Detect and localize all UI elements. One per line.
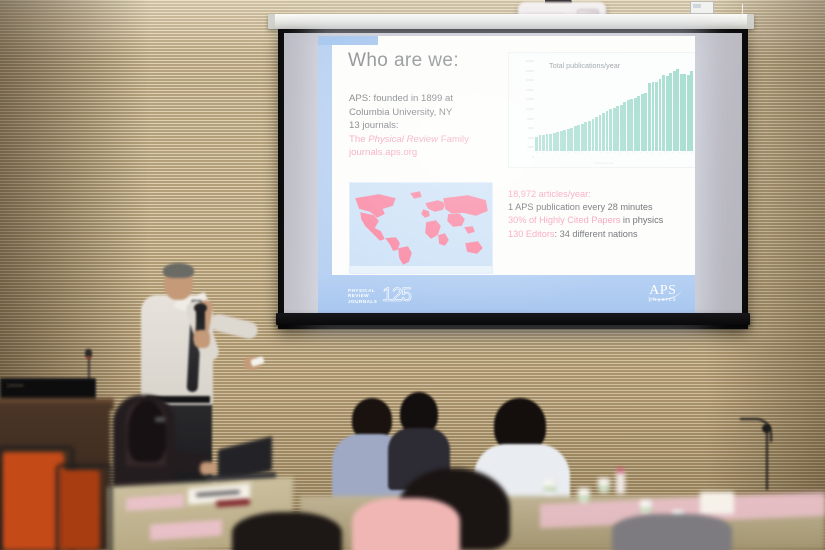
gooseneck-microphone-stem	[766, 430, 768, 490]
chart-bar	[602, 113, 605, 151]
screen-control-box[interactable]	[690, 1, 714, 14]
chart-bar	[680, 74, 683, 151]
chart-bar	[574, 126, 577, 151]
world-map-image	[349, 182, 493, 274]
seated-woman-hand	[200, 462, 218, 475]
slide-title: Who are we:	[348, 50, 459, 72]
chart-plot-area	[535, 59, 693, 151]
presenter-right-hand	[194, 330, 210, 348]
chart-y-tick: 4000	[512, 134, 534, 144]
physical-review-journals-logo: PHYSICAL REVIEW JOURNALS 125	[348, 285, 411, 307]
slide-accent-bar-left	[318, 36, 332, 315]
chart-bar	[609, 109, 612, 151]
power-cable	[712, 4, 743, 21]
paper-sheet-right	[700, 492, 734, 514]
gooseneck-microphone-head	[762, 424, 771, 433]
paper-cup-2	[578, 488, 590, 503]
chart-bar	[546, 134, 549, 151]
anniversary-125-mark: 125	[382, 285, 411, 307]
chart-bar	[690, 71, 693, 152]
stat-4-pink: 130 Editors	[508, 229, 554, 239]
chart-bar	[644, 93, 647, 151]
chart-bar	[570, 128, 573, 151]
lead-line-family: The Physical Review Family	[349, 133, 499, 147]
water-bottle	[616, 472, 625, 494]
prj-line-3: JOURNALS	[348, 299, 377, 305]
chart-bar	[581, 124, 584, 151]
lead-url: journals.aps.org	[349, 146, 499, 160]
paper-cup-4	[640, 500, 652, 515]
stat-3-pink: 30% of Highly Cited Papers	[508, 215, 620, 225]
aps-logo: APS physics	[649, 284, 677, 303]
chart-bar	[553, 133, 556, 151]
chart-y-tick: 12000	[512, 95, 534, 105]
lead-line-2: Columbia University, NY	[349, 106, 499, 120]
paper-cup-3	[598, 478, 610, 493]
chart-bar	[584, 122, 587, 151]
chart-bar	[613, 108, 616, 151]
orange-chair-2-frame	[56, 464, 112, 550]
chart-bar	[641, 94, 644, 151]
chart-bar	[648, 83, 651, 151]
chart-y-tick: 2000	[512, 143, 534, 153]
chart-bar	[676, 69, 679, 151]
lead-pink-italic: Physical Review	[368, 134, 438, 145]
roller-end-left	[268, 14, 275, 29]
presentation-slide: Who are we: APS: founded in 1899 at Colu…	[318, 36, 695, 315]
chart-bar	[539, 135, 542, 151]
seated-woman-glasses	[155, 417, 165, 422]
roller-end-right	[747, 14, 754, 29]
slide-statistics: 18,972 articles/year: 1 APS publication …	[508, 188, 695, 241]
paper-cup-1	[544, 479, 556, 494]
chart-bar	[560, 131, 563, 151]
conference-room-photo: Who are we: APS: founded in 1899 at Colu…	[0, 0, 825, 550]
chart-bar	[535, 137, 538, 151]
slide-lead-text: APS: founded in 1899 at Columbia Univers…	[349, 92, 499, 160]
chart-bar	[637, 96, 640, 151]
chart-bar	[606, 111, 609, 151]
chart-bar	[687, 75, 690, 151]
chart-bar	[669, 73, 672, 151]
chart-bar	[577, 125, 580, 151]
chart-bar	[567, 129, 570, 151]
microphone-capsule	[194, 303, 207, 313]
chart-bar	[563, 130, 566, 151]
chart-y-tick: 8000	[512, 115, 534, 125]
slide-content: Who are we: APS: founded in 1899 at Colu…	[332, 36, 695, 275]
chart-bar	[616, 106, 619, 151]
stat-line-3: 30% of Highly Cited Papers in physics	[508, 214, 695, 227]
seated-woman-hair	[128, 400, 166, 462]
chart-bar	[652, 82, 655, 151]
stat-line-4: 130 Editors: 34 different nations	[508, 228, 695, 241]
chart-y-tick: 18000	[512, 67, 534, 77]
stat-4-plain: : 34 different nations	[554, 229, 637, 239]
chart-bar	[666, 76, 669, 151]
chart-bar	[595, 117, 598, 151]
chart-bar	[588, 121, 591, 151]
roller-brand-text	[278, 18, 279, 23]
chart-bar	[542, 135, 545, 151]
chart-y-tick: 6000	[512, 124, 534, 134]
lead-line-1: APS: founded in 1899 at	[349, 92, 499, 106]
chart-bar	[683, 74, 686, 151]
lead-pink-prefix: The	[349, 134, 368, 145]
chart-bar	[592, 119, 595, 151]
chart-bar	[630, 99, 633, 151]
chart-bar	[673, 71, 676, 151]
chart-bar	[623, 102, 626, 151]
stat-2-plain: 1 APS publication every 28 minutes	[508, 202, 653, 212]
screen-roller-housing[interactable]	[268, 14, 754, 29]
foreground-2-shoulder	[352, 498, 460, 550]
chart-bar	[627, 100, 630, 151]
chart-bar	[556, 132, 559, 151]
monitor-brand-label: Lenovo	[7, 383, 23, 389]
stat-line-1: 18,972 articles/year:	[508, 188, 695, 201]
chart-y-tick: 16000	[512, 76, 534, 86]
slide-footer: PHYSICAL REVIEW JOURNALS 125 APS physics	[318, 275, 695, 315]
prj-wordmark: PHYSICAL REVIEW JOURNALS	[348, 288, 377, 305]
microphone-led-indicator	[87, 356, 90, 359]
stat-1-pink: 18,972 articles/year:	[508, 189, 591, 199]
lead-pink-suffix: Family	[438, 134, 469, 145]
stat-line-2: 1 APS publication every 28 minutes	[508, 201, 695, 214]
world-map-svg	[350, 183, 492, 273]
chart-bar	[549, 134, 552, 151]
chart-bar	[659, 79, 662, 151]
screen-bottom-weight-bar	[276, 313, 750, 325]
foreground-4-shoulder	[612, 514, 732, 550]
presenter-hair	[163, 263, 194, 278]
chart-y-axis: 2000018000160001400012000100008000600040…	[512, 57, 534, 153]
chart-bar	[599, 115, 602, 151]
chart-bar	[620, 105, 623, 151]
chart-y-tick: 14000	[512, 86, 534, 96]
chart-bar	[662, 75, 665, 151]
chart-bar	[634, 98, 637, 151]
chart-y-tick: 10000	[512, 105, 534, 115]
stat-3-plain: in physics	[620, 215, 663, 225]
lead-line-3: 13 journals:	[349, 119, 499, 133]
chart-bar	[655, 82, 658, 151]
chart-y-tick: 20000	[512, 57, 534, 67]
chart-x-axis-label: Publication Year	[509, 161, 695, 165]
publications-chart: Total publications/year 2000018000160001…	[508, 52, 695, 168]
foreground-3-head	[232, 512, 342, 550]
